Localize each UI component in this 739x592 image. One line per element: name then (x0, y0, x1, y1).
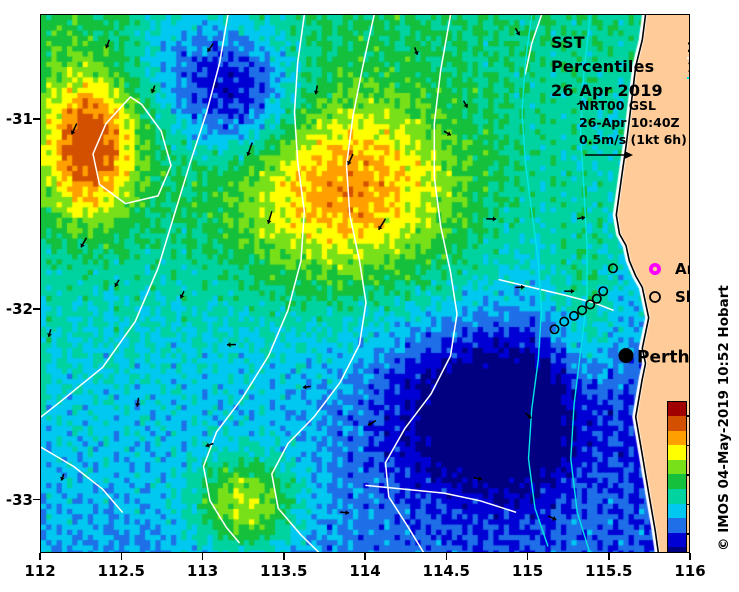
current-arrow-7 (246, 143, 252, 156)
colorbar-tick-40 (687, 504, 690, 506)
current-product-annotation: NRT00 GSL 26-Apr 10:40Z 0.5m/s (1kt 6h) (579, 97, 687, 166)
xtick-115.5 (608, 553, 610, 560)
current-arrow-13 (303, 385, 311, 390)
current-arrow-22 (180, 291, 185, 298)
contour-200m-line-8 (41, 447, 122, 512)
current-arrow-29 (516, 28, 521, 35)
xtick-113 (202, 553, 204, 560)
current-arrow-20 (414, 47, 419, 55)
colorbar-tick-20 (687, 533, 690, 535)
xtick-114.5 (446, 553, 448, 560)
perth-marker-dot (619, 348, 634, 363)
product-name: NRT00 GSL (579, 97, 687, 114)
current-arrow-1 (71, 124, 77, 135)
current-arrow-16 (486, 217, 496, 222)
marker-legend: Argo Ship (647, 255, 690, 311)
current-arrow-11 (378, 219, 385, 230)
current-arrow-28 (151, 86, 156, 94)
current-arrow-9 (314, 86, 319, 95)
ship-marker-1 (599, 287, 607, 295)
current-arrow-24 (473, 476, 482, 481)
yticklabel--33: -33 (0, 491, 33, 509)
xticklabel-112: 112 (5, 562, 75, 580)
figure-title: SST Percentiles 26 Apr 2019 (551, 31, 689, 103)
xticklabel-116: 116 (655, 562, 725, 580)
legend-label-ship: Ship (675, 288, 690, 306)
current-arrow-15 (444, 131, 451, 136)
ytick--31 (33, 118, 40, 120)
xtick-112 (39, 553, 41, 560)
map-plot-area: Perth SST Percentiles 26 Apr 2019 200m 1… (40, 14, 690, 553)
yticklabel--32: -32 (0, 300, 33, 318)
xticklabel-113: 113 (168, 562, 238, 580)
contour-200m (41, 15, 613, 553)
velocity-scale-arrow-icon (579, 148, 639, 162)
colorbar-band-20-30 (668, 518, 686, 533)
current-arrow-31 (115, 280, 120, 287)
current-arrow-25 (525, 413, 531, 418)
xticklabel-115: 115 (493, 562, 563, 580)
ytick--33 (33, 499, 40, 501)
colorbar-tick-80 (687, 445, 690, 447)
city-markers: Perth (619, 348, 690, 368)
xtick-112.5 (121, 553, 123, 560)
colorbar-band-10-20 (668, 533, 686, 548)
legend-row-argo: Argo (647, 255, 690, 283)
colorbar-band-over (668, 402, 686, 416)
xtick-113.5 (283, 553, 285, 560)
perth-label: Perth (637, 348, 690, 368)
contour-200m-line-1 (41, 15, 228, 417)
ship-marker-0 (609, 264, 617, 272)
current-arrow-14 (368, 421, 376, 426)
depth-1000-label: 1000m (687, 59, 690, 78)
colorbar-band-70-80 (668, 445, 686, 460)
colorbar-band-40-50 (668, 489, 686, 504)
attribution-credit: © IMOS 04-May-2019 10:52 Hobart (716, 285, 732, 551)
colorbar: SSTAARS SST Percentiles 020406080100 (667, 401, 687, 553)
current-arrow-19 (577, 216, 585, 221)
velocity-scale-label: 0.5m/s (1kt 6h) (579, 131, 687, 148)
contour-200m-line-3 (272, 15, 374, 553)
ship-icon (647, 289, 663, 305)
current-arrow-6 (207, 44, 213, 52)
colorbar-band-60-70 (668, 460, 686, 475)
xtick-114 (364, 553, 366, 560)
current-arrow-4 (135, 398, 140, 407)
xtick-116 (689, 553, 691, 560)
xticklabel-113.5: 113.5 (249, 562, 319, 580)
current-arrow-5 (60, 474, 65, 481)
current-vector-arrows (47, 28, 585, 520)
current-arrow-8 (267, 211, 272, 224)
depth-contour-key: 200m 1000m (687, 39, 690, 79)
contour-200m-line-0 (93, 97, 171, 204)
ship-marker-5 (570, 312, 578, 320)
product-timestamp: 26-Apr 10:40Z (579, 114, 687, 131)
colorbar-gradient (667, 401, 687, 553)
contour-200m-line-4 (386, 15, 458, 553)
colorbar-band-30-40 (668, 504, 686, 519)
colorbar-band-90-100 (668, 416, 686, 431)
title-line-1: SST Percentiles (551, 31, 689, 79)
colorbar-tick-100 (687, 415, 690, 417)
current-arrow-3 (47, 329, 52, 337)
current-arrow-26 (548, 516, 556, 521)
xtick-115 (527, 553, 529, 560)
current-arrow-18 (564, 289, 574, 294)
xticklabel-112.5: 112.5 (86, 562, 156, 580)
legend-label-argo: Argo (675, 260, 690, 278)
yticklabel--31: -31 (0, 110, 33, 128)
current-arrow-0 (105, 40, 110, 48)
xticklabel-114: 114 (330, 562, 400, 580)
colorbar-tick-60 (687, 474, 690, 476)
ship-marker-7 (550, 325, 558, 333)
colorbar-band-50-60 (668, 474, 686, 489)
current-arrow-21 (464, 101, 469, 108)
colorbar-band-80-90 (668, 431, 686, 446)
legend-row-ship: Ship (647, 283, 690, 311)
xticklabel-114.5: 114.5 (411, 562, 481, 580)
contour-1000m-line-0 (522, 15, 548, 546)
current-arrow-2 (81, 238, 87, 248)
current-arrow-12 (227, 342, 236, 347)
colorbar-band-0-10 (668, 547, 686, 553)
ship-marker-6 (560, 317, 568, 325)
depth-200-label: 200m (687, 39, 690, 58)
argo-icon (647, 261, 663, 277)
ytick--32 (33, 308, 40, 310)
xticklabel-115.5: 115.5 (574, 562, 644, 580)
current-arrow-27 (340, 510, 349, 515)
contour-200m-line-2 (204, 15, 305, 543)
